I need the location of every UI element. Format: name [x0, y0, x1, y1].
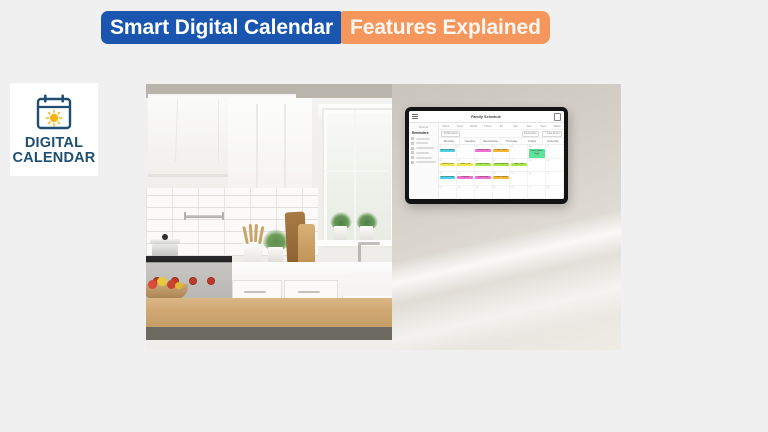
calendar-week-row: 08Grocery Run09Book Club10Swim Lesson11T… — [439, 159, 564, 173]
calendar-event[interactable]: Book Club — [457, 163, 473, 166]
calendar-day-cell[interactable]: 18Guitar Lesson — [493, 172, 511, 185]
list-icon — [411, 161, 414, 164]
calendar-grid[interactable]: 01Soccer Practice0203Dentist Visit04Pian… — [439, 145, 564, 199]
calendar-day-cell[interactable]: 16Playdate — [457, 172, 475, 185]
calendar-week-row: 15Art Workshop16Playdate17Doctor Appt18G… — [439, 172, 564, 186]
gift-icon — [411, 156, 414, 159]
sidebar-item-appointments[interactable] — [411, 147, 436, 150]
bell-icon — [411, 137, 414, 140]
calendar-date-number: 09 — [457, 160, 473, 162]
calendar-date-number: 19 — [511, 173, 527, 175]
calendar-day-strip: MonsTuesWedsThursFriSatSunTuesWeds — [439, 123, 564, 130]
calendar-event[interactable]: Art Workshop — [440, 176, 456, 179]
sidebar-item-label — [416, 147, 434, 149]
calendar-column-header: Thursday — [501, 138, 522, 144]
check-icon — [411, 142, 414, 145]
calendar-date-number: 10 — [475, 160, 491, 162]
app-header: Family Schedule — [409, 111, 564, 123]
sidebar-item-label — [416, 142, 428, 144]
calendar-day-name: Mons — [439, 123, 453, 129]
sidebar-item-events[interactable] — [411, 137, 436, 140]
calendar-with-sun-icon — [33, 93, 75, 133]
calendar-date-number: 28 — [547, 187, 563, 189]
calendar-date-number: 23 — [457, 187, 473, 189]
device-icon[interactable] — [554, 113, 561, 121]
calendar-event[interactable]: Playdate — [457, 176, 473, 179]
utensil-crock — [244, 242, 263, 264]
calendar-event[interactable]: Yoga Class — [511, 163, 527, 166]
clock-icon — [411, 147, 414, 150]
calendar-event[interactable]: Guitar Lesson — [493, 176, 509, 179]
calendar-day-cell[interactable]: 22 — [439, 186, 457, 199]
calendar-day-cell[interactable]: 08Grocery Run — [439, 159, 457, 172]
page-title-secondary: Features Explained — [341, 11, 550, 44]
sidebar-item-shared-family-list[interactable] — [411, 161, 436, 164]
sidebar-item-chores[interactable] — [411, 151, 436, 154]
page-title-banner: Smart Digital Calendar Features Explaine… — [101, 11, 550, 44]
app-title: Family Schedule — [418, 115, 554, 119]
calendar-week-row: 22232425262728 — [439, 186, 564, 200]
sidebar-tab-label[interactable]: Friends — [411, 125, 436, 129]
calendar-day-cell[interactable]: 21 — [546, 172, 564, 185]
page-bottom-area — [0, 350, 768, 432]
calendar-column-header: Friday — [522, 138, 543, 144]
calendar-date-number: 05 — [511, 146, 527, 148]
calendar-day-name: Fri — [495, 123, 509, 129]
app-sidebar[interactable]: Friends Reminders — [409, 123, 439, 199]
calendar-date-number: 26 — [511, 187, 527, 189]
brand-logo: DIGITAL CALENDAR — [10, 83, 98, 176]
calendar-date-number: 25 — [493, 187, 509, 189]
calendar-date-number: 11 — [493, 160, 509, 162]
calendar-day-cell[interactable]: 13 — [528, 159, 546, 172]
calendar-day-cell[interactable]: 12Yoga Class — [510, 159, 528, 172]
brand-logo-line1: DIGITAL — [13, 136, 96, 151]
calendar-toolbar[interactable]: All Members September + New Event — [439, 130, 564, 138]
calendar-day-name: Weds — [550, 123, 564, 129]
tablet-screen[interactable]: Family Schedule Friends Reminders — [409, 111, 564, 199]
calendar-date-number: 24 — [475, 187, 491, 189]
calendar-event[interactable]: Piano Class — [493, 149, 509, 152]
hero-photo: Family Schedule Friends Reminders — [146, 84, 621, 350]
page-canvas: Smart Digital Calendar Features Explaine… — [0, 0, 768, 432]
butcher-block-island — [146, 298, 392, 328]
sidebar-item-tasks[interactable] — [411, 142, 436, 145]
calendar-day-name: Sat — [508, 123, 522, 129]
broom-icon — [411, 151, 414, 154]
calendar-date-number: 13 — [529, 160, 545, 162]
calendar-day-cell[interactable]: 19 — [510, 172, 528, 185]
calendar-event[interactable]: Doctor Appt — [475, 176, 491, 179]
calendar-day-name: Thurs — [481, 123, 495, 129]
month-selector-chip[interactable]: September — [522, 131, 540, 137]
sidebar-item-label — [416, 157, 432, 159]
calendar-event[interactable]: Soccer Practice — [440, 149, 456, 152]
wall-photo: Family Schedule Friends Reminders — [392, 84, 621, 350]
calendar-date-number: 02 — [457, 146, 473, 148]
calendar-column-header: Saturday — [543, 138, 564, 144]
calendar-date-number: 20 — [529, 173, 545, 175]
calendar-panel[interactable]: MonsTuesWedsThursFriSatSunTuesWeds All M… — [439, 123, 564, 199]
calendar-event[interactable]: Swim Lesson — [475, 163, 491, 166]
calendar-day-cell[interactable]: 15Art Workshop — [439, 172, 457, 185]
brand-logo-text: DIGITAL CALENDAR — [13, 136, 96, 166]
calendar-day-cell[interactable]: 20 — [528, 172, 546, 185]
calendar-day-cell[interactable]: 05 — [510, 145, 528, 158]
calendar-day-cell[interactable]: 17Doctor Appt — [475, 172, 493, 185]
calendar-day-cell[interactable]: 07 — [546, 145, 564, 158]
calendar-day-cell[interactable]: 26 — [510, 186, 528, 199]
calendar-day-name: Tues — [536, 123, 550, 129]
calendar-day-cell[interactable]: 24 — [475, 186, 493, 199]
sidebar-heading: Reminders — [412, 131, 436, 135]
member-filter-chip[interactable]: All Members — [441, 131, 460, 137]
calendar-day-cell[interactable]: 11Team Meeting — [493, 159, 511, 172]
calendar-date-number: 07 — [547, 146, 563, 148]
calendar-day-name: Tues — [453, 123, 467, 129]
calendar-event[interactable]: Family Movie Night — [529, 149, 545, 158]
add-event-chip[interactable]: + New Event — [542, 131, 562, 137]
calendar-date-number: 12 — [511, 160, 527, 162]
calendar-day-cell[interactable]: 02 — [457, 145, 475, 158]
wall-mounted-tablet[interactable]: Family Schedule Friends Reminders — [405, 107, 568, 204]
sidebar-item-label — [416, 138, 430, 140]
calendar-day-name: Sun — [522, 123, 536, 129]
calendar-date-number: 22 — [440, 187, 456, 189]
calendar-day-cell[interactable]: 23 — [457, 186, 475, 199]
calendar-date-number: 14 — [547, 160, 563, 162]
calendar-column-headers: MondayTuesdayWednesdayThursdayFridaySatu… — [439, 138, 564, 145]
calendar-day-cell[interactable]: 09Book Club — [457, 159, 475, 172]
app-body: Friends Reminders — [409, 123, 564, 199]
sidebar-item-label — [416, 161, 437, 163]
cutting-board-light — [298, 224, 315, 264]
calendar-date-number: 21 — [547, 173, 563, 175]
calendar-date-number: 08 — [440, 160, 456, 162]
calendar-event[interactable]: Grocery Run — [440, 163, 456, 166]
calendar-day-cell[interactable]: 25 — [493, 186, 511, 199]
page-title-primary: Smart Digital Calendar — [101, 11, 342, 44]
calendar-day-cell[interactable]: 27 — [528, 186, 546, 199]
calendar-column-header: Tuesday — [460, 138, 481, 144]
calendar-event[interactable]: Team Meeting — [493, 163, 509, 166]
brand-logo-line2: CALENDAR — [13, 151, 96, 166]
calendar-day-cell[interactable]: 10Swim Lesson — [475, 159, 493, 172]
calendar-column-header: Wednesday — [481, 138, 502, 144]
calendar-week-row: 01Soccer Practice0203Dentist Visit04Pian… — [439, 145, 564, 159]
calendar-day-cell[interactable]: 01Soccer Practice — [439, 145, 457, 158]
calendar-event[interactable]: Dentist Visit — [475, 149, 491, 152]
calendar-day-cell[interactable]: 06Family Movie Night — [528, 145, 546, 158]
calendar-day-cell[interactable]: 03Dentist Visit — [475, 145, 493, 158]
sidebar-item-birthdays[interactable] — [411, 156, 436, 159]
sidebar-item-label — [416, 152, 429, 154]
calendar-column-header: Monday — [439, 138, 460, 144]
calendar-day-name: Weds — [467, 123, 481, 129]
calendar-day-cell[interactable]: 28 — [546, 186, 564, 199]
kitchen-photo — [146, 84, 392, 350]
calendar-day-cell[interactable]: 14 — [546, 159, 564, 172]
calendar-date-number: 27 — [529, 187, 545, 189]
calendar-day-cell[interactable]: 04Piano Class — [493, 145, 511, 158]
